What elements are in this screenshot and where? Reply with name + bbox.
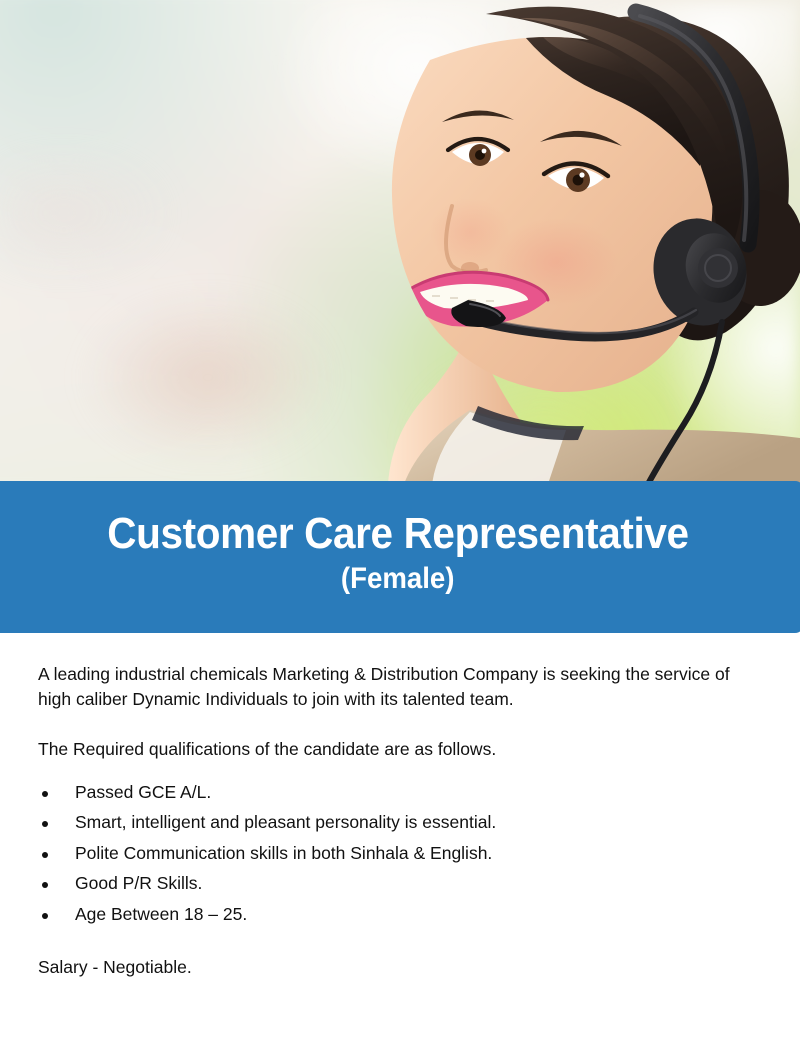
requirements-lead: The Required qualifications of the candi…	[38, 737, 762, 762]
requirement-text: Age Between 18 – 25.	[75, 904, 247, 924]
bullet-icon	[42, 913, 48, 919]
requirement-text: Polite Communication skills in both Sinh…	[75, 843, 492, 863]
page-title: Customer Care Representative	[107, 511, 688, 557]
requirement-item: Good P/R Skills.	[38, 875, 762, 893]
requirement-text: Passed GCE A/L.	[75, 782, 211, 802]
bullet-icon	[42, 821, 48, 827]
requirement-item: Smart, intelligent and pleasant personal…	[38, 814, 762, 832]
requirement-item: Age Between 18 – 25.	[38, 906, 762, 924]
bullet-icon	[42, 852, 48, 858]
requirement-text: Good P/R Skills.	[75, 873, 202, 893]
bullet-icon	[42, 791, 48, 797]
job-title-banner: Customer Care Representative (Female)	[0, 481, 800, 633]
requirements-list: Passed GCE A/L.Smart, intelligent and pl…	[38, 784, 762, 924]
agent-portrait	[0, 0, 800, 484]
page-subtitle: (Female)	[341, 561, 455, 597]
hero-photo	[0, 0, 800, 484]
job-description-body: A leading industrial chemicals Marketing…	[0, 640, 800, 1038]
salary-line: Salary - Negotiable.	[38, 955, 762, 980]
requirement-text: Smart, intelligent and pleasant personal…	[75, 812, 496, 832]
requirement-item: Passed GCE A/L.	[38, 784, 762, 802]
requirement-item: Polite Communication skills in both Sinh…	[38, 845, 762, 863]
bullet-icon	[42, 882, 48, 888]
intro-paragraph: A leading industrial chemicals Marketing…	[38, 662, 756, 712]
